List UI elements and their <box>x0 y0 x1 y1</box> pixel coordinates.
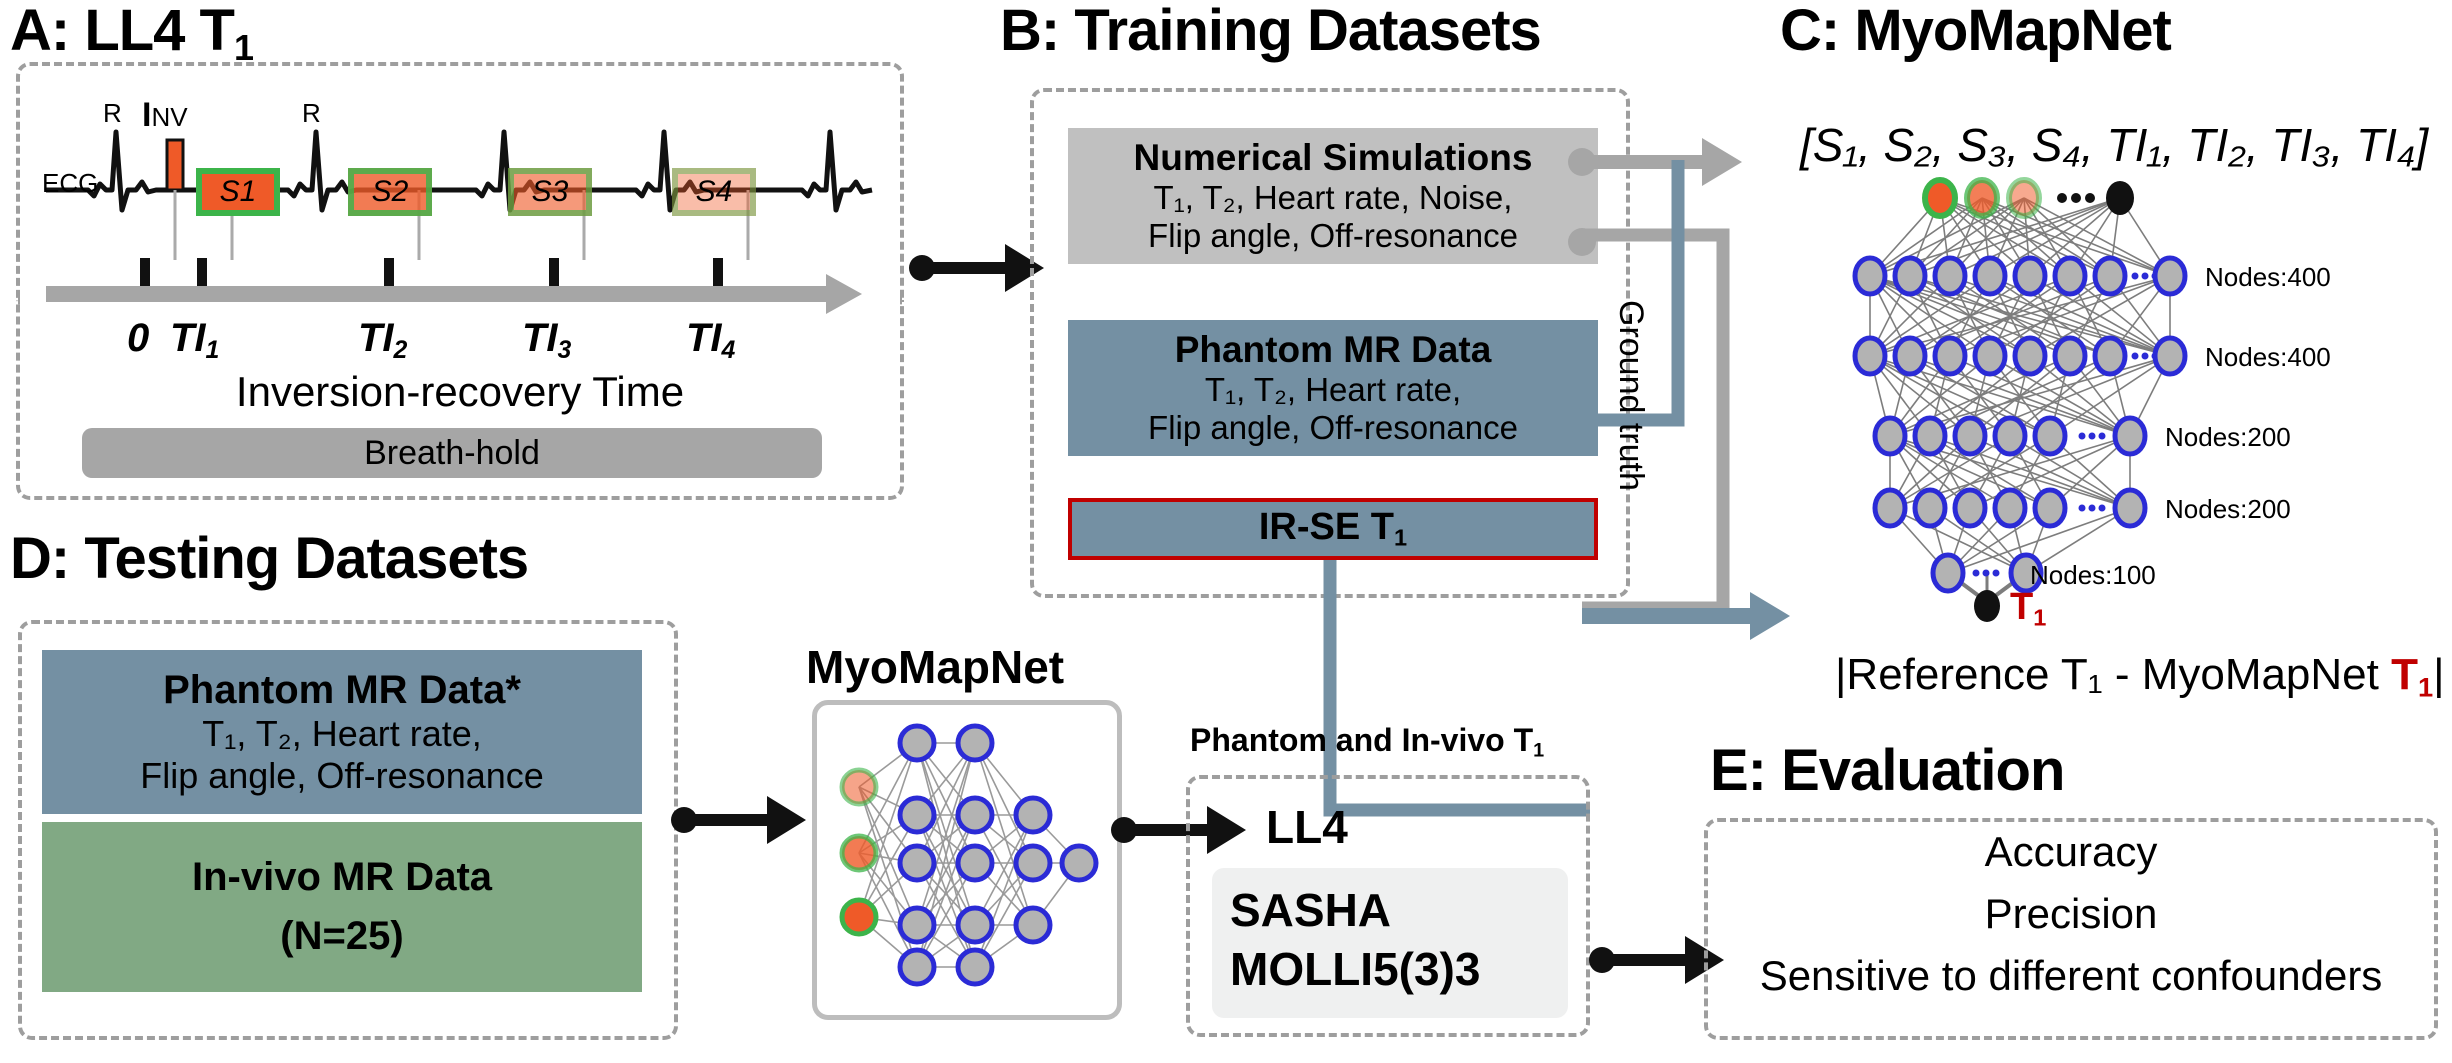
shot-label-s2: S2 <box>372 175 409 209</box>
numerical-simulations-line1: T₁, T₂, Heart rate, Noise, <box>1154 179 1513 217</box>
ti2-main: TI <box>358 316 394 360</box>
outputs-caption-sub: 1 <box>1533 740 1544 762</box>
layer-label-5: Nodes:100 <box>2030 560 2156 591</box>
phantom-mr-data-line1: T₁, T₂, Heart rate, <box>1205 371 1461 409</box>
panel-e-title: E: Evaluation <box>1710 742 2064 800</box>
ir-se-t1-label: IR-SE T1 <box>1259 506 1407 552</box>
breath-hold-bar: Breath-hold <box>82 428 822 478</box>
shot-box-s4: S4 <box>672 168 756 216</box>
numerical-simulations-heading: Numerical Simulations <box>1134 137 1533 179</box>
breath-hold-label: Breath-hold <box>364 434 540 473</box>
panel-b-title: B: Training Datasets <box>1000 2 1541 60</box>
testing-invivo-count: (N=25) <box>280 914 403 959</box>
input-node-2 <box>1967 180 1997 216</box>
arrow-d-to-net <box>672 790 812 850</box>
testing-invivo-box: In-vivo MR Data (N=25) <box>42 822 642 992</box>
ti3-sub: 3 <box>558 337 572 364</box>
phantom-mr-data-line2: Flip angle, Off-resonance <box>1148 409 1518 447</box>
inversion-label-sub: NV <box>151 102 187 132</box>
input-node-1 <box>1925 180 1955 216</box>
loss-t1-main: T <box>2391 650 2418 699</box>
loss-expression-pre: |Reference T₁ - MyoMapNet <box>1835 650 2391 699</box>
connector-dot-phantom <box>1564 408 1588 432</box>
t1-output-label: T1 <box>2010 586 2046 632</box>
input-ellipsis-dot-2 <box>2071 193 2081 203</box>
shot-label-s3: S3 <box>532 175 569 209</box>
input-ellipsis-dot-3 <box>2085 193 2095 203</box>
inference-input-node-2 <box>842 836 876 870</box>
inference-input-node-1 <box>842 770 876 804</box>
input-ellipsis-dot-1 <box>2057 193 2067 203</box>
panel-c-title: C: MyoMapNet <box>1780 2 2171 60</box>
ground-truth-text: Ground truth <box>1611 300 1650 340</box>
shot-label-s4: S4 <box>696 175 733 209</box>
testing-phantom-heading: Phantom MR Data* <box>163 668 521 713</box>
tick-0 <box>140 258 150 286</box>
output-sasha-label: SASHA <box>1230 878 1568 942</box>
shot-box-s3: S3 <box>508 168 592 216</box>
panel-a-title: A: LL4 T1 <box>10 2 253 66</box>
testing-phantom-line2: Flip angle, Off-resonance <box>140 755 544 797</box>
arrow-to-input-vector <box>1582 138 1742 186</box>
loss-t1-sub: 1 <box>2418 672 2433 703</box>
inversion-pulse <box>167 140 183 190</box>
evaluation-item-precision: Precision <box>1704 890 2438 938</box>
layer-label-4: Nodes:200 <box>2165 494 2291 525</box>
loss-expression-t1: T1 <box>2391 650 2433 699</box>
tick-ti4 <box>713 258 723 286</box>
ti4-main: TI <box>686 316 722 360</box>
inference-output-node <box>1062 846 1096 880</box>
loss-expression: |Reference T₁ - MyoMapNet T1| <box>1835 650 2445 704</box>
loss-expression-post: | <box>2433 650 2444 699</box>
arrow-to-loss <box>1582 592 1790 640</box>
myomapnet-architecture <box>1830 178 2250 608</box>
arrow-a-to-b <box>910 238 1050 298</box>
ground-truth-label: Ground truth <box>1650 300 1690 339</box>
testing-invivo-heading: In-vivo MR Data <box>192 855 492 900</box>
time-tick-label-ti1: TI1 <box>170 316 219 365</box>
ir-se-t1-sub: 1 <box>1394 525 1407 551</box>
tick-ti1 <box>197 258 207 286</box>
shot-label-s1: S1 <box>220 175 257 209</box>
evaluation-item-accuracy: Accuracy <box>1704 828 2438 876</box>
ti1-sub: 1 <box>206 337 220 364</box>
outputs-caption-main: Phantom and In-vivo T <box>1190 722 1533 758</box>
inference-input-node-3 <box>842 900 876 934</box>
ti3-main: TI <box>522 316 558 360</box>
phantom-mr-data-heading: Phantom MR Data <box>1175 329 1492 371</box>
ecg-label: ECG <box>42 168 98 199</box>
t1-output-sub: 1 <box>2033 605 2046 631</box>
input-node-3 <box>2009 180 2039 216</box>
layer-label-1: Nodes:400 <box>2205 262 2331 293</box>
r-label-2: R <box>302 98 321 129</box>
numerical-simulations-box: Numerical Simulations T₁, T₂, Heart rate… <box>1068 128 1598 264</box>
myomapnet-inference-title: MyoMapNet <box>806 640 1064 694</box>
shot-box-s1: S1 <box>196 168 280 216</box>
output-molli-label: MOLLI5(3)3 <box>1230 942 1568 997</box>
evaluation-item-confounders: Sensitive to different confounders <box>1704 952 2438 1000</box>
layer-label-2: Nodes:400 <box>2205 342 2331 373</box>
tick-ti2 <box>384 258 394 286</box>
inversion-label: INV <box>142 96 188 135</box>
time-tick-label-0: 0 <box>127 316 149 361</box>
input-node-last <box>2106 181 2134 215</box>
layer-label-3: Nodes:200 <box>2165 422 2291 453</box>
panel-a-title-text: A: LL4 T <box>10 0 234 63</box>
ti1-main: TI <box>170 316 206 360</box>
testing-phantom-line1: T₁, T₂, Heart rate, <box>202 713 482 755</box>
output-node <box>1974 590 2000 622</box>
time-tick-label-ti3: TI3 <box>522 316 571 365</box>
outputs-other-box: SASHA MOLLI5(3)3 <box>1212 868 1568 1018</box>
myomapnet-inference-box <box>812 700 1122 1020</box>
hidden-layer-3 <box>1875 418 2145 454</box>
ti4-sub: 4 <box>722 337 736 364</box>
shot-box-s2: S2 <box>348 168 432 216</box>
input-vector-label: [S₁, S₂, S₃, S₄, TI₁, TI₂, TI₃, TI₄] <box>1800 118 2428 172</box>
ir-se-t1-main: IR-SE T <box>1259 506 1394 548</box>
time-axis-arrow <box>46 274 862 314</box>
time-tick-label-ti2: TI2 <box>358 316 407 365</box>
outputs-caption: Phantom and In-vivo T1 <box>1190 722 1544 763</box>
tick-ti3 <box>549 258 559 286</box>
testing-phantom-box: Phantom MR Data* T₁, T₂, Heart rate, Fli… <box>42 650 642 814</box>
time-tick-label-ti4: TI4 <box>686 316 735 365</box>
time-axis <box>36 258 886 314</box>
numerical-simulations-line2: Flip angle, Off-resonance <box>1148 217 1518 255</box>
t1-output-main: T <box>2010 586 2033 628</box>
ti2-sub: 2 <box>394 337 408 364</box>
output-primary-label: LL4 <box>1266 800 1348 854</box>
panel-d-title: D: Testing Datasets <box>10 530 528 588</box>
phantom-mr-data-box: Phantom MR Data T₁, T₂, Heart rate, Flip… <box>1068 320 1598 456</box>
r-label-1: R <box>103 98 122 129</box>
inversion-recovery-axis-label: Inversion-recovery Time <box>16 368 904 416</box>
ir-se-t1-box: IR-SE T1 <box>1068 498 1598 560</box>
